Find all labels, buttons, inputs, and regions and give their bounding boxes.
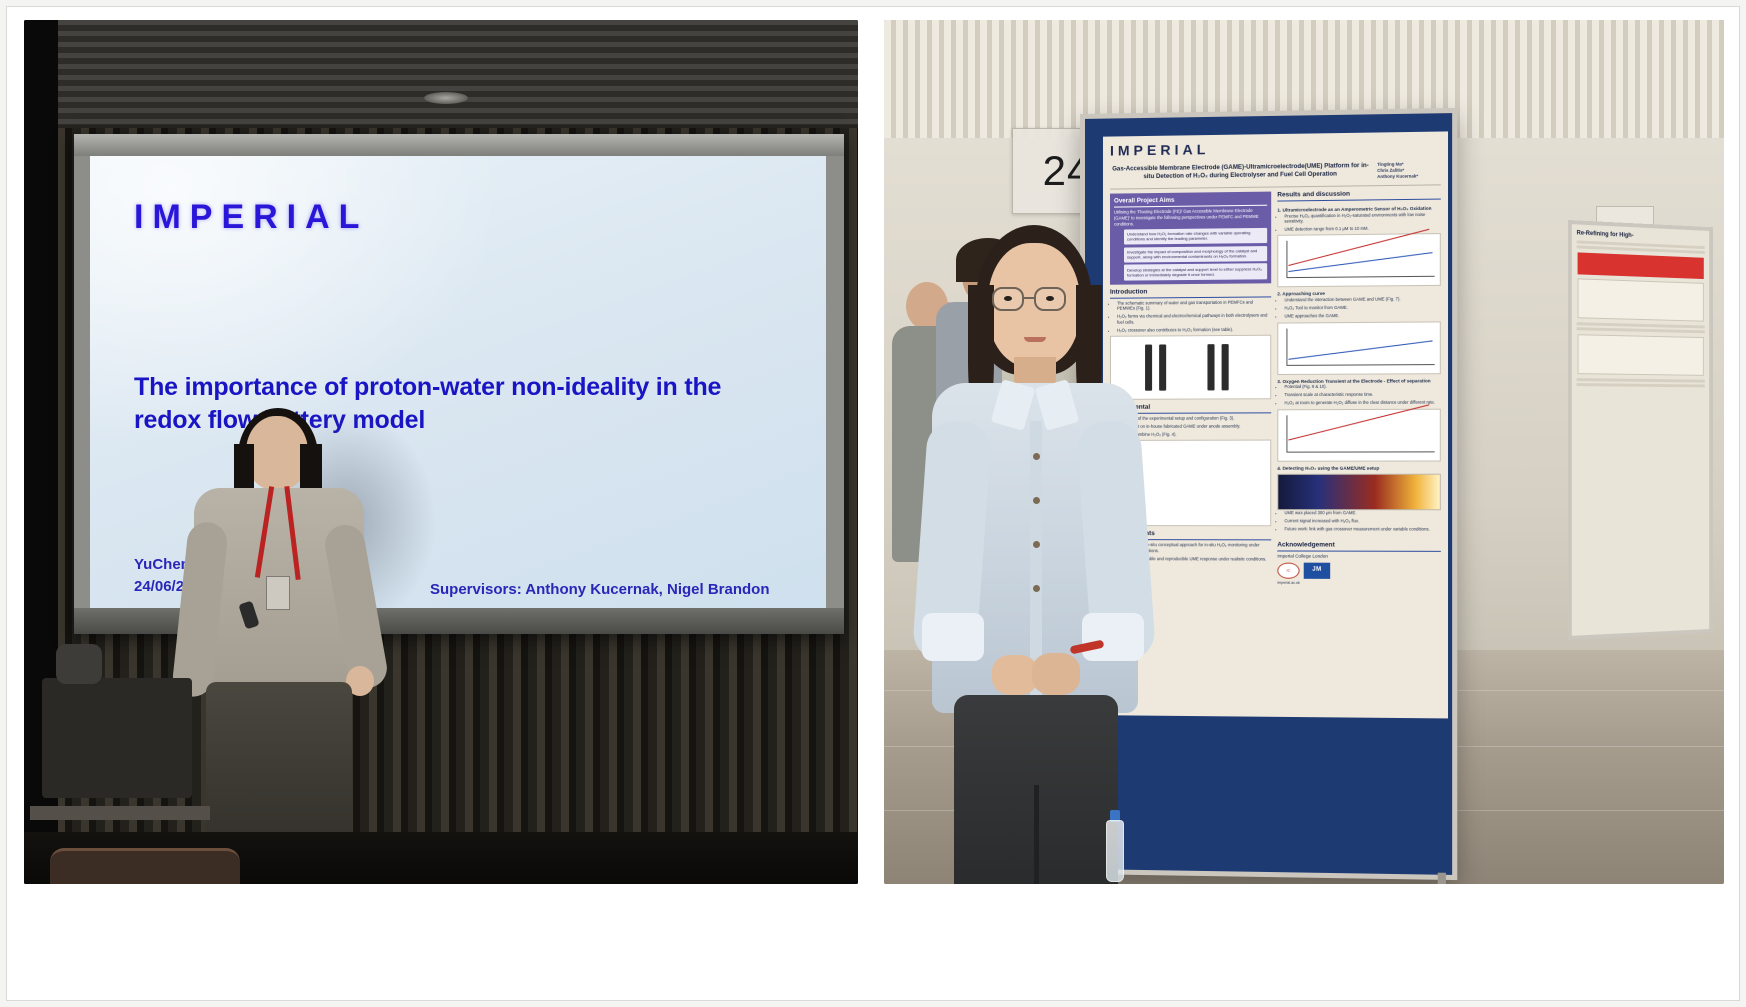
photo-pair: IMPERIAL The importance of proton-water … <box>24 20 1724 884</box>
ceiling-light-icon <box>424 92 468 104</box>
presenter-badge <box>266 576 290 610</box>
poster-title-row: Gas-Accessible Membrane Electrode (GAME)… <box>1110 160 1441 184</box>
researcher-eye-right <box>1046 296 1054 301</box>
adjacent-poster-banner <box>1578 252 1704 279</box>
rolled-cuff-right <box>1082 613 1144 661</box>
projector-table <box>30 806 210 820</box>
researcher-figure <box>884 225 1184 884</box>
results-bullet: UME was placed 300 μm from GAME. <box>1284 510 1440 516</box>
projector-lens-icon <box>56 644 102 684</box>
results-subsection: 2. Approaching curve Understand the inte… <box>1277 290 1441 374</box>
researcher-hand-right <box>1032 653 1080 695</box>
rolled-cuff-left <box>922 613 984 661</box>
poster-title: Gas-Accessible Membrane Electrode (GAME)… <box>1110 161 1371 181</box>
adjacent-poster-figure-1 <box>1578 278 1704 321</box>
poster-imperial-wordmark: IMPERIAL <box>1110 138 1441 160</box>
projector-unit <box>42 678 192 798</box>
glasses-bridge <box>1024 297 1034 299</box>
lecture-room: IMPERIAL The importance of proton-water … <box>24 20 858 884</box>
results-subsection: 1. Ultramicroelectrode as an Amperometri… <box>1277 205 1441 287</box>
results-heading: Results and discussion <box>1277 189 1441 201</box>
results-bullet: Future work: link with gas crossover mea… <box>1284 527 1440 533</box>
results-bullet: H₂O₂ Tool to monitor from GAME. <box>1284 304 1440 311</box>
adjacent-poster-figure-2 <box>1578 334 1704 376</box>
presenter-head <box>246 416 308 490</box>
poster-column-right: Results and discussion 1. Ultramicroelec… <box>1277 189 1441 586</box>
exhibition-hall: 24 26 Re-Refining for High- <box>884 20 1724 884</box>
front-row-chair <box>50 848 240 884</box>
adjacent-poster-board: Re-Refining for High- <box>1568 220 1713 640</box>
results-subsection-heading: 4. Detecting H₂O₂ using the GAME/UME set… <box>1277 465 1441 471</box>
results-subsection: 3. Oxygen Reduction Transient at the Ele… <box>1277 378 1441 462</box>
screenshot-root: IMPERIAL The importance of proton-water … <box>0 0 1746 1007</box>
trouser-leg-split <box>1034 785 1039 884</box>
results-figure-2 <box>1277 321 1441 375</box>
poster-website: imperial.ac.uk <box>1277 581 1441 586</box>
results-bullet: Precise H₂O₂ quantification in H₂O₂-satu… <box>1284 211 1440 224</box>
results-bullet: H₂O₂ at room to generate H₂O₂ diffuse in… <box>1284 400 1440 406</box>
acknowledgement-text: Imperial College London <box>1277 554 1441 560</box>
results-bullet: Potential (Fig. 8 & 10). <box>1284 384 1440 390</box>
results-heatmap-figure <box>1277 474 1441 511</box>
results-figure-1 <box>1277 233 1441 287</box>
aims-heading: Overall Project Aims <box>1114 195 1267 207</box>
acknowledgement-heading: Acknowledgement <box>1277 542 1441 552</box>
screen-top-bar <box>74 134 844 156</box>
ceiling-slats <box>24 20 858 128</box>
poster-header: IMPERIAL Gas-Accessible Membrane Electro… <box>1110 138 1441 190</box>
aims-intro: Utilising the 'Floating Electrode (FE)/ … <box>1114 208 1267 227</box>
imperial-college-logo-icon: IC <box>1277 562 1299 578</box>
results-subsection: 4. Detecting H₂O₂ using the GAME/UME set… <box>1277 465 1441 535</box>
researcher-mouth <box>1024 337 1046 342</box>
results-bullet: Current signal increased with H₂O₂ flux. <box>1284 518 1440 524</box>
results-figure-3 <box>1277 408 1441 461</box>
conference-talk-photo: IMPERIAL The importance of proton-water … <box>24 20 858 884</box>
water-bottle <box>1106 820 1124 882</box>
results-bullet: Understand the interaction between GAME … <box>1284 296 1440 303</box>
slide-supervisors: Supervisors: Anthony Kucernak, Nigel Bra… <box>430 581 770 598</box>
poster-author-list: Tingting Ma* Chris Zalitis* Anthony Kuce… <box>1377 160 1441 180</box>
poster-logos: IC JM <box>1277 562 1441 579</box>
poster-author: Anthony Kucernak* <box>1377 174 1441 181</box>
researcher-eye-left <box>1004 296 1012 301</box>
results-bullet: Transient scale at characteristic respon… <box>1284 392 1440 398</box>
results-bullet: UME approaches the GAME. <box>1284 312 1440 319</box>
poster-section-acknowledgement: Acknowledgement Imperial College London … <box>1277 542 1441 586</box>
imperial-wordmark: IMPERIAL <box>134 198 368 237</box>
johnson-matthey-logo-icon: JM <box>1304 563 1330 579</box>
poster-session-photo: 24 26 Re-Refining for High- <box>884 20 1724 884</box>
